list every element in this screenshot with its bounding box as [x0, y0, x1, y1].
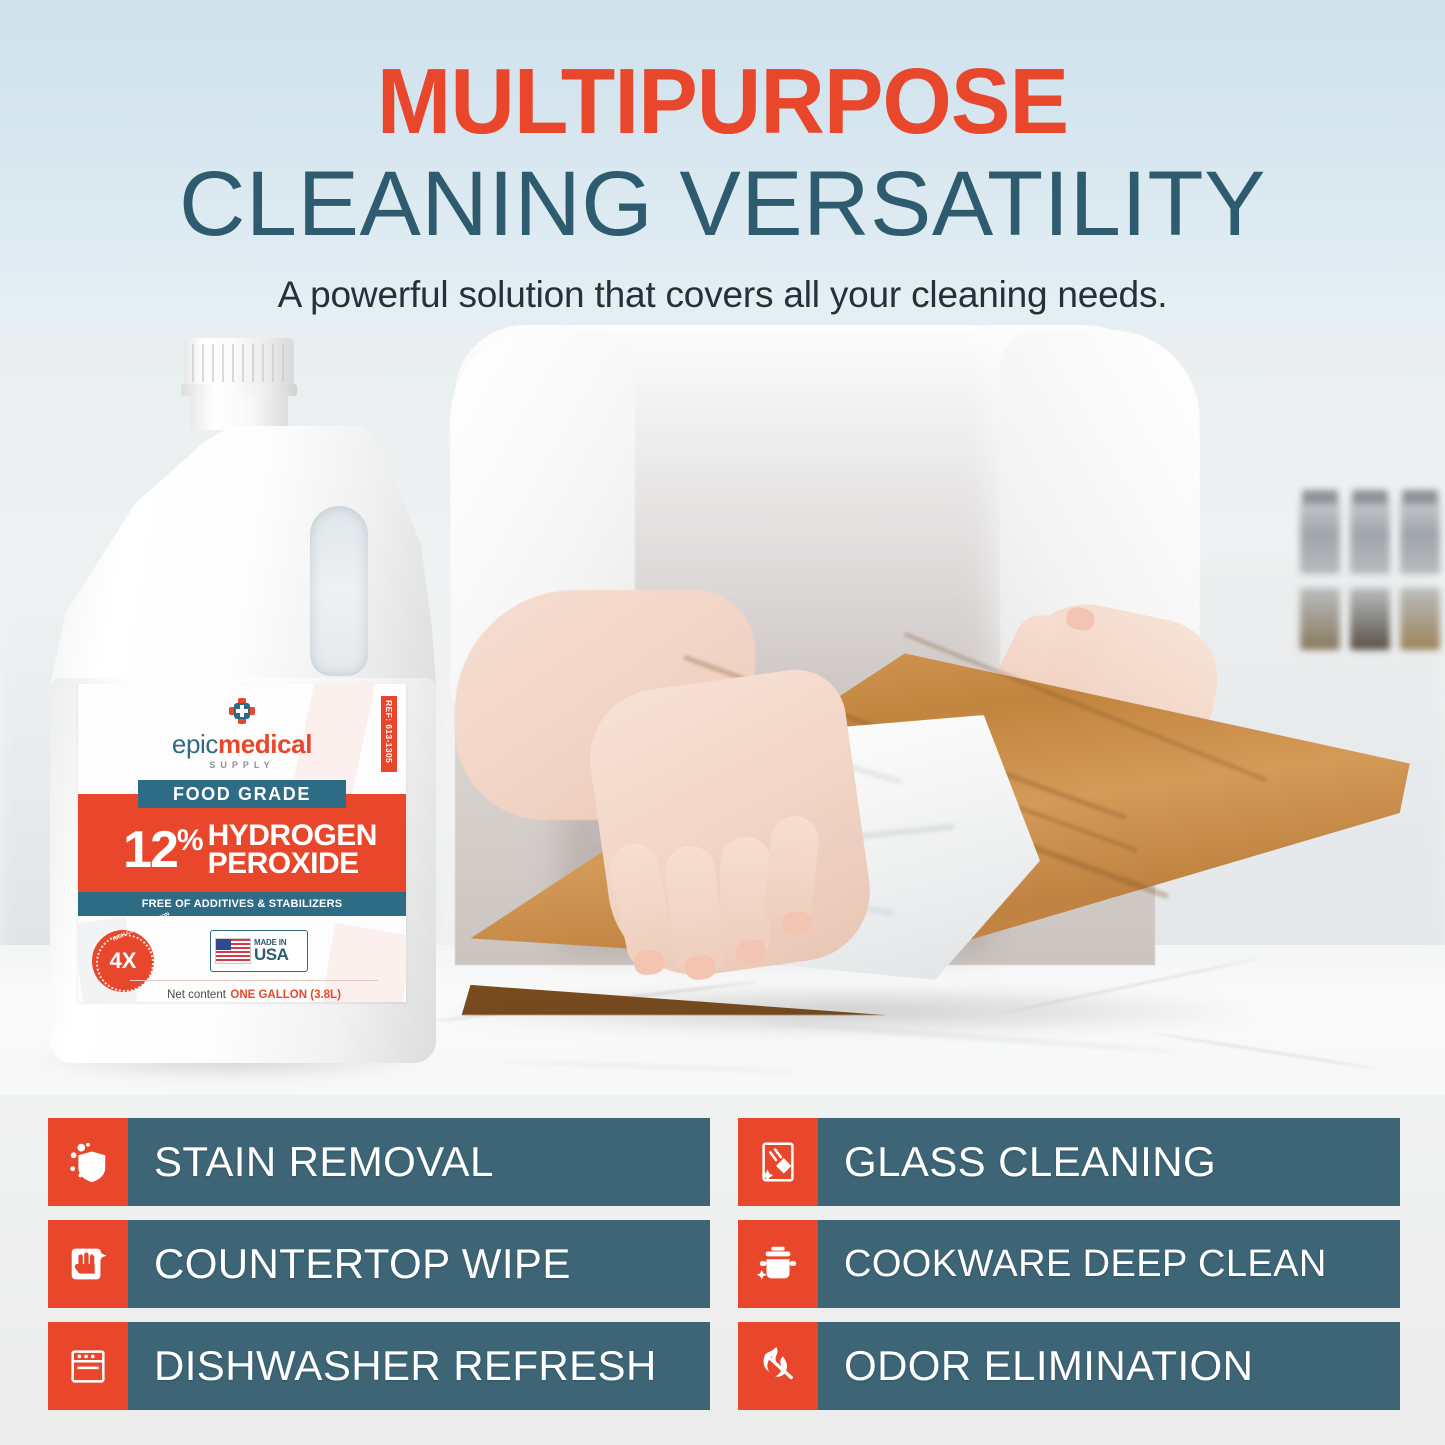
- free-of-additives-band: FREE OF ADDITIVES & STABILIZERS: [78, 892, 406, 916]
- feature-label: COOKWARE DEEP CLEAN: [844, 1243, 1327, 1286]
- brand-epic: epic: [172, 729, 218, 759]
- product-name-line2: PEROXIDE: [208, 850, 377, 879]
- bottle-shoulder: [50, 426, 436, 686]
- feature-label-bar: ODOR ELIMINATION: [818, 1322, 1400, 1410]
- dishwasher-icon: [48, 1322, 128, 1410]
- feature-label: GLASS CLEANING: [844, 1138, 1216, 1186]
- product-name: HYDROGEN PEROXIDE: [208, 822, 377, 879]
- food-grade-text: FOOD GRADE: [173, 784, 311, 805]
- net-content-line: Net content ONE GALLON (3.8L): [130, 980, 378, 1002]
- us-flag-icon: [215, 938, 251, 964]
- brand-logo: epicmedical SUPPLY: [78, 698, 406, 770]
- feature-label-bar: GLASS CLEANING: [818, 1118, 1400, 1206]
- feature-badge-stain-removal[interactable]: STAIN REMOVAL: [48, 1118, 710, 1206]
- brand-medical: medical: [218, 729, 312, 759]
- product-name-line1: HYDROGEN: [208, 822, 377, 851]
- pot-icon: [738, 1220, 818, 1308]
- feature-label: ODOR ELIMINATION: [844, 1342, 1253, 1390]
- feature-badge-cookware-deep-clean[interactable]: COOKWARE DEEP CLEAN: [738, 1220, 1400, 1308]
- feature-label-bar: COOKWARE DEEP CLEAN: [818, 1220, 1400, 1308]
- medical-cross-icon: [229, 698, 255, 724]
- feature-label: COUNTERTOP WIPE: [154, 1240, 571, 1288]
- no-odor-icon: [738, 1322, 818, 1410]
- net-content-label: Net content: [167, 989, 226, 1001]
- squeegee-icon: [738, 1118, 818, 1206]
- brand-supply: SUPPLY: [78, 760, 406, 770]
- net-content-value: ONE GALLON (3.8L): [230, 989, 341, 1001]
- bottle-neck: [190, 394, 288, 430]
- feature-badge-countertop-wipe[interactable]: COUNTERTOP WIPE: [48, 1220, 710, 1308]
- percent-number: 12: [123, 821, 177, 879]
- feature-badge-dishwasher-refresh[interactable]: DISHWASHER REFRESH: [48, 1322, 710, 1410]
- concentration-value: 12%: [123, 827, 202, 874]
- percent-symbol: %: [177, 824, 202, 857]
- bottle-cap: [184, 338, 294, 390]
- wiping-hand-icon: [48, 1220, 128, 1308]
- food-grade-badge: FOOD GRADE: [138, 780, 346, 808]
- usa-text: USA: [254, 947, 288, 963]
- stain-shield-icon: [48, 1118, 128, 1206]
- feature-badge-grid: STAIN REMOVAL GLASS CLEANING: [48, 1118, 1400, 1410]
- hand-left: [581, 663, 879, 986]
- feature-label: DISHWASHER REFRESH: [154, 1342, 657, 1390]
- feature-badge-odor-elimination[interactable]: ODOR ELIMINATION: [738, 1322, 1400, 1410]
- product-label: REF: 613-1305 epicmedical SUPPLY FOOD GR…: [78, 684, 406, 1002]
- brand-name: epicmedical: [78, 731, 406, 757]
- feature-label-bar: COUNTERTOP WIPE: [128, 1220, 710, 1308]
- feature-label: STAIN REMOVAL: [154, 1138, 494, 1186]
- bottle-handle: [310, 506, 368, 676]
- made-in-usa-badge: MADE IN USA: [210, 930, 308, 972]
- feature-label-bar: DISHWASHER REFRESH: [128, 1322, 710, 1410]
- feature-label-bar: STAIN REMOVAL: [128, 1118, 710, 1206]
- free-of-additives-text: FREE OF ADDITIVES & STABILIZERS: [142, 898, 343, 910]
- feature-badge-glass-cleaning[interactable]: GLASS CLEANING: [738, 1118, 1400, 1206]
- product-marketing-image: MULTIPURPOSE CLEANING VERSATILITY A powe…: [0, 0, 1445, 1445]
- product-title-block: 12% HYDROGEN PEROXIDE: [78, 808, 406, 892]
